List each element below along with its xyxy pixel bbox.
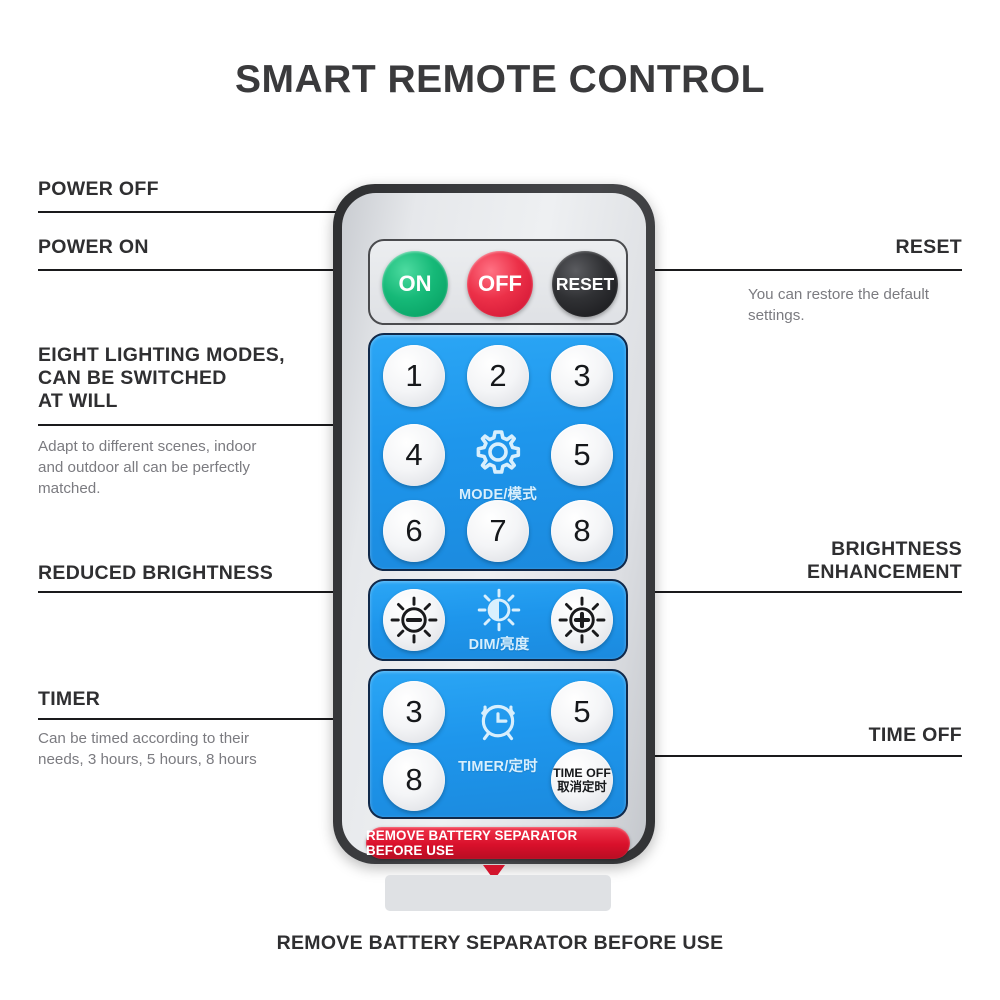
callout-timer: TIMER: [38, 688, 100, 711]
key-7-label: 7: [489, 513, 506, 549]
key-4[interactable]: 4: [383, 424, 445, 486]
key-6-label: 6: [405, 513, 422, 549]
key-8[interactable]: 8: [551, 500, 613, 562]
alarm-clock-icon: [471, 693, 525, 752]
callout-brightness-enhancement: BRIGHTNESS ENHANCEMENT: [662, 538, 962, 584]
callout-power-off: POWER OFF: [38, 178, 159, 201]
timer-label: TIMER/定时: [430, 755, 566, 776]
callout-eight-modes-heading: EIGHT LIGHTING MODES, CAN BE SWITCHED AT…: [38, 344, 328, 413]
remote-face: ON OFF RESET 1 2 3 4 5 6 7 8: [342, 193, 646, 855]
callout-reset-description-wrap: You can restore the default settings.: [748, 278, 978, 327]
timer-key-5-label: 5: [573, 694, 590, 730]
key-5-label: 5: [573, 437, 590, 473]
callout-timer-description: Can be timed according to their needs, 3…: [38, 729, 328, 771]
off-button[interactable]: OFF: [467, 251, 533, 317]
callout-eight-modes-description: Adapt to different scenes, indoor and ou…: [38, 437, 328, 500]
half-sun-icon: [474, 585, 524, 640]
page-title: SMART REMOTE CONTROL: [0, 58, 1000, 102]
key-6[interactable]: 6: [383, 500, 445, 562]
reset-button-label: RESET: [556, 274, 614, 295]
callout-brightness-enhancement-heading: BRIGHTNESS ENHANCEMENT: [662, 538, 962, 584]
timer-key-3-label: 3: [405, 694, 422, 730]
battery-separator-strip: REMOVE BATTERY SEPARATOR BEFORE USE: [366, 827, 630, 859]
key-2-label: 2: [489, 358, 506, 394]
callout-timer-heading: TIMER: [38, 688, 100, 711]
infographic-canvas: SMART REMOTE CONTROL POWER OFF POWER ON …: [0, 0, 1000, 1000]
callout-reset: RESET: [692, 236, 962, 259]
callout-power-on-heading: POWER ON: [38, 236, 149, 259]
callout-reduced-brightness: REDUCED BRIGHTNESS: [38, 562, 273, 585]
key-4-label: 4: [405, 437, 422, 473]
lighting-mode-keypad-panel: 1 2 3 4 5 6 7 8 MODE/模式: [368, 333, 628, 571]
callout-eight-modes: EIGHT LIGHTING MODES, CAN BE SWITCHED AT…: [38, 344, 328, 413]
key-3[interactable]: 3: [551, 345, 613, 407]
mode-label: MODE/模式: [433, 483, 563, 504]
key-1[interactable]: 1: [383, 345, 445, 407]
key-1-label: 1: [405, 358, 422, 394]
dimmer-panel: DIM/亮度: [368, 579, 628, 661]
time-off-button-label-zh: 取消定时: [557, 780, 607, 794]
timer-panel: 3 5 8 TIME OFF 取消定时: [368, 669, 628, 819]
remote-control-body: ON OFF RESET 1 2 3 4 5 6 7 8: [333, 184, 655, 864]
callout-reset-heading: RESET: [692, 236, 962, 259]
reset-button[interactable]: RESET: [552, 251, 618, 317]
key-5[interactable]: 5: [551, 424, 613, 486]
key-2[interactable]: 2: [467, 345, 529, 407]
dim-label: DIM/亮度: [434, 633, 564, 654]
power-button-panel: ON OFF RESET: [368, 239, 628, 325]
callout-reduced-brightness-heading: REDUCED BRIGHTNESS: [38, 562, 273, 585]
timer-key-5[interactable]: 5: [551, 681, 613, 743]
callout-reset-description: You can restore the default settings.: [748, 285, 978, 327]
callout-eight-modes-description-wrap: Adapt to different scenes, indoor and ou…: [38, 430, 328, 500]
leader-line-time-off: [618, 755, 962, 757]
battery-separator-tab: [385, 875, 611, 911]
on-button[interactable]: ON: [382, 251, 448, 317]
key-3-label: 3: [573, 358, 590, 394]
timer-key-8-label: 8: [405, 762, 422, 798]
timer-key-3[interactable]: 3: [383, 681, 445, 743]
gear-icon: [469, 423, 527, 486]
callout-timer-description-wrap: Can be timed according to their needs, 3…: [38, 722, 328, 771]
battery-separator-strip-text: REMOVE BATTERY SEPARATOR BEFORE USE: [366, 828, 630, 858]
bottom-caption: REMOVE BATTERY SEPARATOR BEFORE USE: [0, 932, 1000, 955]
callout-time-off-heading: TIME OFF: [692, 724, 962, 747]
key-8-label: 8: [573, 513, 590, 549]
off-button-label: OFF: [478, 271, 522, 297]
callout-time-off: TIME OFF: [692, 724, 962, 747]
on-button-label: ON: [399, 271, 432, 297]
callout-power-off-heading: POWER OFF: [38, 178, 159, 201]
key-7[interactable]: 7: [467, 500, 529, 562]
callout-power-on: POWER ON: [38, 236, 149, 259]
